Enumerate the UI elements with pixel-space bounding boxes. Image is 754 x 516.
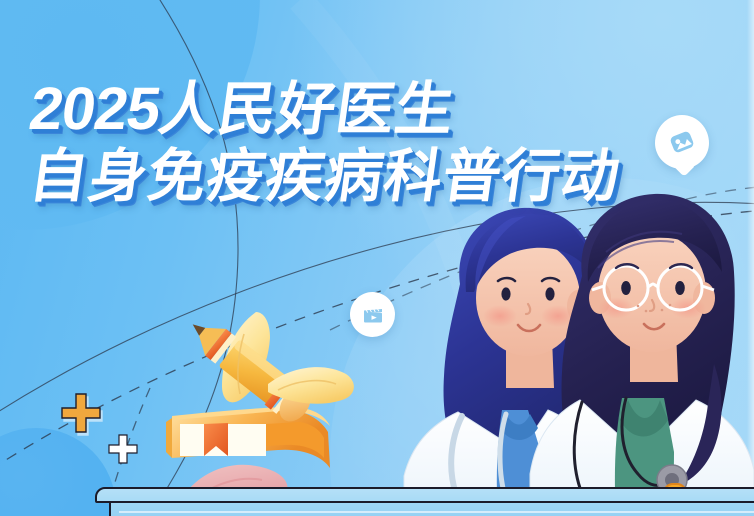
banner-title: 2025人民好医生 自身免疫疾病科普行动 bbox=[30, 78, 620, 208]
title-line-2: 自身免疫疾病科普行动 bbox=[26, 144, 625, 208]
clapperboard-glyph bbox=[361, 303, 385, 327]
photo-glyph bbox=[667, 127, 697, 157]
desk-counter bbox=[95, 487, 754, 516]
doctors-illustration bbox=[402, 188, 754, 516]
plus-mark-orange bbox=[58, 390, 104, 436]
campaign-banner: 2025人民好医生 自身免疫疾病科普行动 bbox=[0, 0, 754, 516]
open-book bbox=[166, 407, 330, 468]
photo-pin-icon[interactable] bbox=[655, 115, 709, 169]
doctor-right-eye-l bbox=[621, 281, 631, 295]
title-line-1: 2025人民好医生 bbox=[26, 78, 625, 140]
title-year: 2025 bbox=[25, 75, 164, 142]
desk-top-surface bbox=[95, 487, 754, 503]
desk-highlight-line bbox=[119, 511, 754, 513]
winged-pencil-and-book bbox=[160, 300, 360, 516]
doctor-left-eye-l bbox=[501, 287, 510, 300]
title-line-1-text: 人民好医生 bbox=[155, 75, 460, 143]
plus-mark-white bbox=[106, 432, 140, 466]
doctor-left-blush-l bbox=[483, 305, 517, 327]
doctor-left-eye-r bbox=[545, 287, 554, 300]
desk-front-face bbox=[109, 503, 754, 516]
doctor-right-eye-r bbox=[675, 281, 685, 295]
